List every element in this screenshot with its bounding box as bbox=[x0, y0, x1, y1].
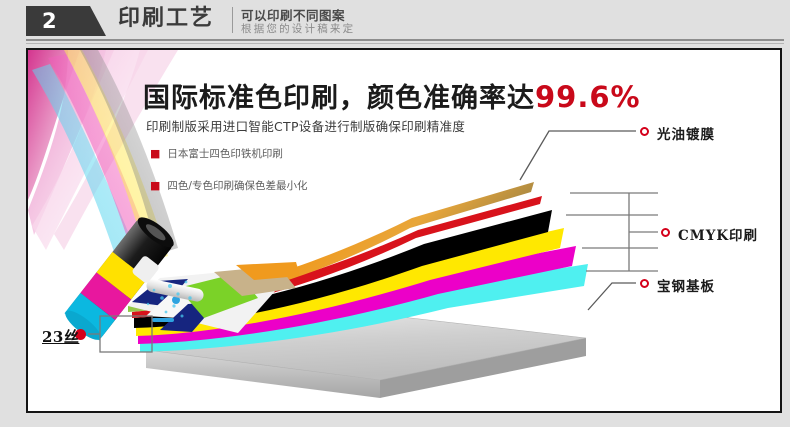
feature-bullet-list: ■日本富士四色印铁机印刷 ■四色/专色印刷确保色差最小化 bbox=[150, 146, 307, 210]
bullet-dot-icon: ■ bbox=[150, 179, 160, 192]
header-rule-thick bbox=[26, 39, 784, 41]
header-subtitle-secondary: 根据您的设计稿来定 bbox=[241, 21, 355, 36]
callout-label-baseplate: 宝钢基板 bbox=[657, 275, 715, 295]
callout-label-thickness: 23丝 bbox=[42, 326, 79, 347]
section-title: 印刷工艺 bbox=[118, 4, 214, 34]
callout-label-cmyk: CMYK印刷 bbox=[678, 224, 758, 244]
callout-label-varnish: 光油镀膜 bbox=[657, 123, 715, 143]
section-number-badge: 2 bbox=[26, 6, 106, 36]
section-number-label: 2 bbox=[42, 9, 58, 33]
header-rule-thin bbox=[26, 43, 784, 44]
accuracy-highlight: 99.6% bbox=[535, 80, 641, 114]
bullet-dot-icon: ■ bbox=[150, 147, 160, 160]
list-item-label: 日本富士四色印铁机印刷 bbox=[167, 148, 283, 160]
callout-marker-varnish bbox=[640, 127, 649, 136]
section-header: 2 印刷工艺 可以印刷不同图案 根据您的设计稿来定 bbox=[0, 0, 790, 38]
callout-marker-baseplate bbox=[640, 279, 649, 288]
page-title: 国际标准色印刷，颜色准确率达99.6% bbox=[143, 76, 641, 115]
header-divider bbox=[232, 7, 233, 33]
list-item: ■日本富士四色印铁机印刷 bbox=[150, 146, 307, 161]
page-title-text: 国际标准色印刷，颜色准确率达 bbox=[143, 83, 535, 114]
list-item: ■四色/专色印刷确保色差最小化 bbox=[150, 178, 307, 193]
page-subtitle: 印刷制版采用进口智能CTP设备进行制版确保印刷精准度 bbox=[146, 116, 465, 135]
page-root: 2 印刷工艺 可以印刷不同图案 根据您的设计稿来定 bbox=[0, 0, 790, 427]
list-item-label: 四色/专色印刷确保色差最小化 bbox=[167, 180, 307, 192]
callout-marker-cmyk bbox=[661, 228, 670, 237]
